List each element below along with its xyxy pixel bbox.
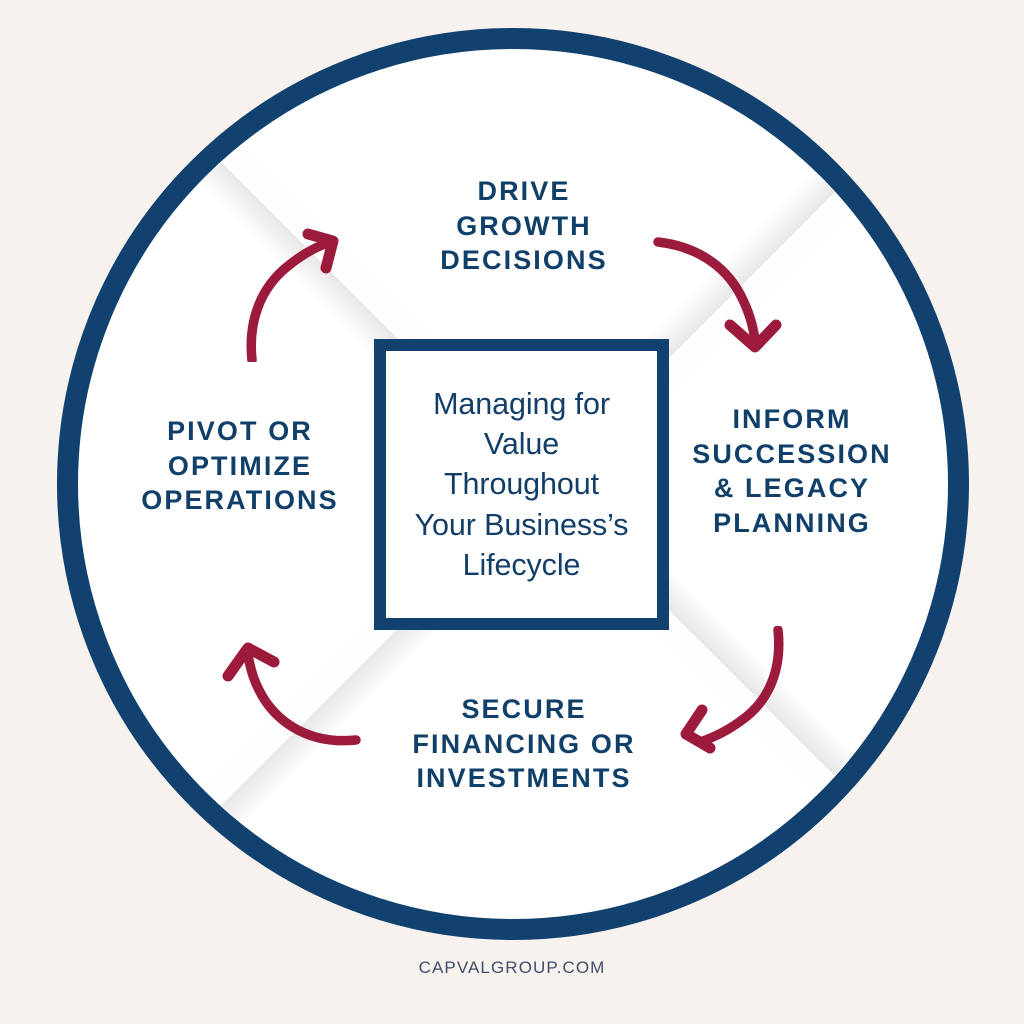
stage-label-pivot-or-optimize-operations: PIVOT OR OPTIMIZE OPERATIONS (108, 414, 372, 518)
center-concept-label: Managing for Value Throughout Your Busin… (409, 384, 635, 585)
curved-arrow-down-left-icon (656, 626, 796, 768)
footer-website: CAPVALGROUP.COM (0, 958, 1024, 978)
curved-arrow-down-right-icon (652, 222, 788, 362)
stage-label-inform-succession-legacy-planning: INFORM SUCCESSION & LEGACY PLANNING (648, 402, 936, 540)
center-concept-box: Managing for Value Throughout Your Busin… (374, 339, 669, 630)
cycle-diagram: Managing for Value Throughout Your Busin… (0, 0, 1024, 1024)
curved-arrow-up-right-icon (238, 222, 368, 362)
curved-arrow-up-left-icon (222, 622, 362, 768)
